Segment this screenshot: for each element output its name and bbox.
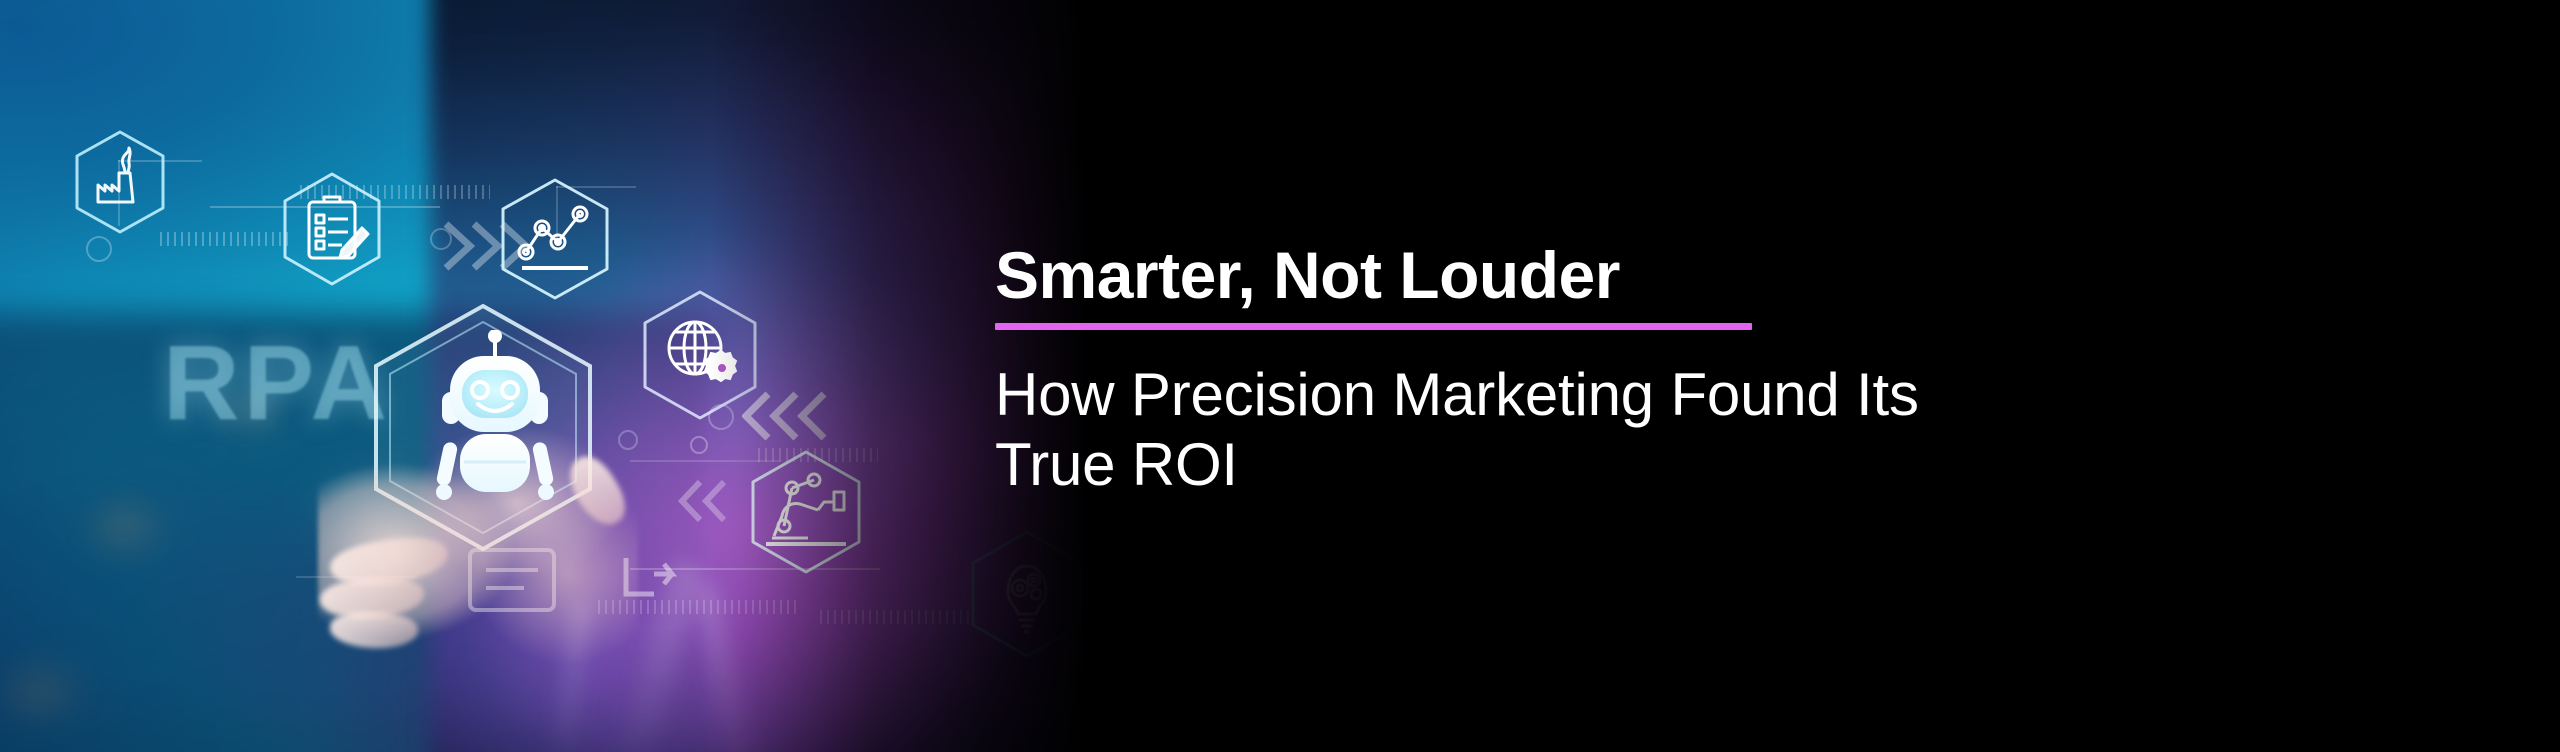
hero-text-block: Smarter, Not Louder How Precision Market… — [995, 240, 2475, 501]
hero-artwork: RPA — [0, 0, 1140, 752]
vignette — [0, 0, 1140, 752]
hero-banner: RPA — [0, 0, 2560, 752]
page-subtitle: How Precision Marketing Found Its True R… — [995, 360, 2475, 500]
subtitle-line-1: How Precision Marketing Found Its — [995, 360, 2475, 430]
title-underline — [995, 323, 1752, 330]
page-title: Smarter, Not Louder — [995, 240, 2475, 311]
subtitle-line-2: True ROI — [995, 430, 2475, 500]
